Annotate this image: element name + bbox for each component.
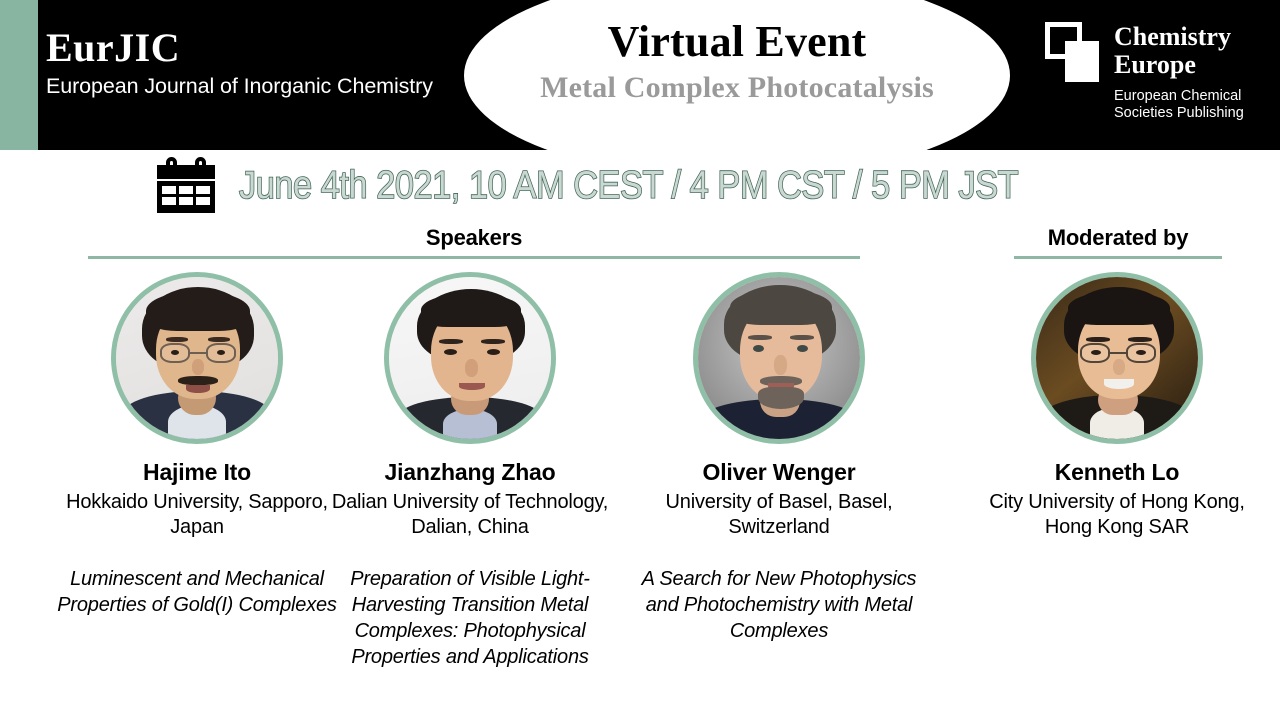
publisher-name-line-1: Chemistry xyxy=(1114,23,1244,51)
moderator-divider xyxy=(1014,256,1222,259)
speaker-portrait-jianzhang-zhao xyxy=(384,272,556,444)
speaker-affiliation: Hokkaido University, Sapporo, Japan xyxy=(52,490,342,541)
speaker-name: Hajime Ito xyxy=(52,460,342,486)
chemistry-europe-wordmark: Chemistry Europe European Chemical Socie… xyxy=(1114,22,1244,122)
journal-logo: EurJIC European Journal of Inorganic Che… xyxy=(46,28,476,99)
speakers-section-header: Speakers xyxy=(88,226,860,259)
moderator-card: Kenneth Lo City University of Hong Kong,… xyxy=(972,272,1262,541)
event-date-text: June 4th 2021, 10 AM CEST / 4 PM CST / 5… xyxy=(239,164,1018,208)
journal-full-title: European Journal of Inorganic Chemistry xyxy=(46,75,476,99)
event-date-bar: June 4th 2021, 10 AM CEST / 4 PM CST / 5… xyxy=(0,150,1280,222)
speaker-name: Oliver Wenger xyxy=(634,460,924,486)
speaker-card-1: Hajime Ito Hokkaido University, Sapporo,… xyxy=(52,272,342,618)
speaker-name: Jianzhang Zhao xyxy=(325,460,615,486)
green-accent-bar xyxy=(0,0,38,150)
calendar-icon xyxy=(155,157,217,215)
journal-abbreviation: EurJIC xyxy=(46,28,476,68)
moderator-affiliation: City University of Hong Kong, Hong Kong … xyxy=(972,490,1262,541)
chemistry-europe-logo: Chemistry Europe European Chemical Socie… xyxy=(1045,22,1244,122)
square-filled-shape xyxy=(1065,41,1099,82)
speaker-card-2: Jianzhang Zhao Dalian University of Tech… xyxy=(325,272,615,670)
event-title-block: Virtual Event Metal Complex Photocatalys… xyxy=(464,20,1010,103)
event-title-ellipse: Virtual Event Metal Complex Photocatalys… xyxy=(464,0,1010,150)
speaker-affiliation: University of Basel, Basel, Switzerland xyxy=(634,490,924,541)
speaker-portrait-hajime-ito xyxy=(111,272,283,444)
event-title: Virtual Event xyxy=(464,20,1010,64)
publisher-tagline-line-1: European Chemical xyxy=(1114,88,1244,105)
speaker-portrait-oliver-wenger xyxy=(693,272,865,444)
overlapping-squares-icon xyxy=(1045,22,1103,84)
moderator-name: Kenneth Lo xyxy=(972,460,1262,486)
moderator-section-header: Moderated by xyxy=(1014,226,1222,259)
event-subtitle: Metal Complex Photocatalysis xyxy=(464,73,1010,103)
people-grid: Hajime Ito Hokkaido University, Sapporo,… xyxy=(0,272,1280,720)
speaker-talk-title: A Search for New Photophysics and Photoc… xyxy=(634,566,924,644)
header-banner: EurJIC European Journal of Inorganic Che… xyxy=(0,0,1280,150)
speaker-talk-title: Preparation of Visible Light-Harvesting … xyxy=(325,566,615,670)
speaker-talk-title: Luminescent and Mechanical Properties of… xyxy=(52,566,342,618)
speaker-card-3: Oliver Wenger University of Basel, Basel… xyxy=(634,272,924,644)
moderator-portrait-kenneth-lo xyxy=(1031,272,1203,444)
speakers-heading: Speakers xyxy=(88,226,860,249)
speakers-divider xyxy=(88,256,860,259)
publisher-tagline-line-2: Societies Publishing xyxy=(1114,105,1244,122)
moderator-heading: Moderated by xyxy=(1014,226,1222,249)
publisher-name-line-2: Europe xyxy=(1114,51,1244,79)
speaker-affiliation: Dalian University of Technology, Dalian,… xyxy=(325,490,615,541)
